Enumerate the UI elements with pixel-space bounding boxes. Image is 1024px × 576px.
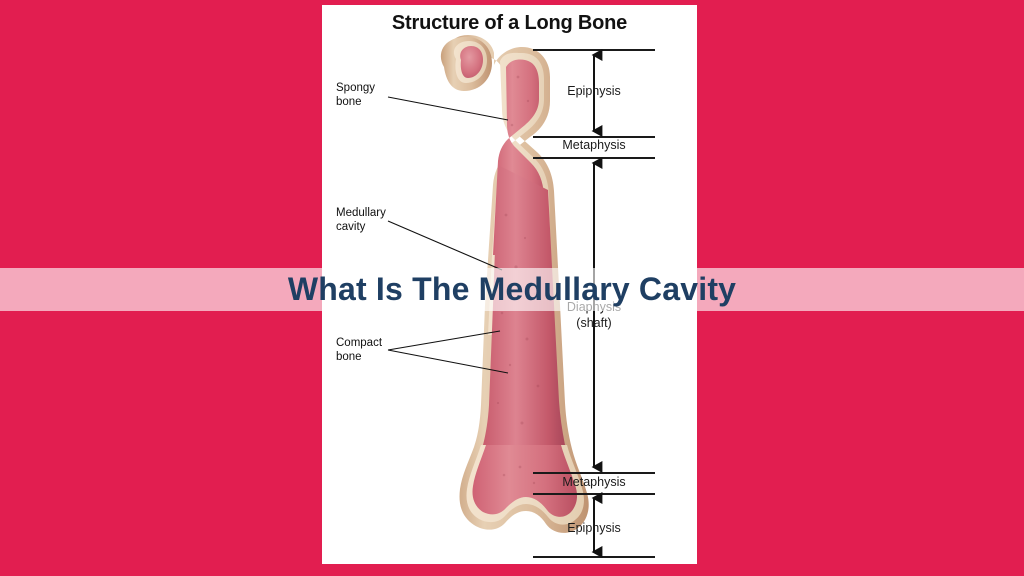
- region-rule-metaphysis-top-lower: [533, 157, 655, 159]
- leader-spongy-bone: [388, 97, 508, 120]
- leader-compact-bone-upper: [388, 331, 500, 350]
- region-label-epiphysis-top: Epiphysis: [533, 84, 655, 98]
- region-rule-metaphysis-bottom-lower: [533, 493, 655, 495]
- region-label-epiphysis-bottom: Epiphysis: [533, 521, 655, 535]
- callout-compact-bone: Compact bone: [336, 336, 382, 364]
- screenshot-stage: Structure of a Long Bone: [0, 0, 1024, 576]
- leader-medullary-cavity: [388, 221, 502, 270]
- region-rule-metaphysis-bottom-upper: [533, 472, 655, 474]
- region-label-diaphysis-shaft: (shaft): [533, 316, 655, 330]
- region-label-metaphysis-top: Metaphysis: [533, 138, 655, 152]
- overlay-title: What Is The Medullary Cavity: [0, 268, 1024, 311]
- callout-spongy-bone: Spongy bone: [336, 81, 375, 109]
- region-rule-distal-bottom: [533, 556, 655, 558]
- region-rule-proximal-top: [533, 49, 655, 51]
- region-label-metaphysis-bottom: Metaphysis: [533, 475, 655, 489]
- callout-medullary-cavity: Medullary cavity: [336, 206, 386, 234]
